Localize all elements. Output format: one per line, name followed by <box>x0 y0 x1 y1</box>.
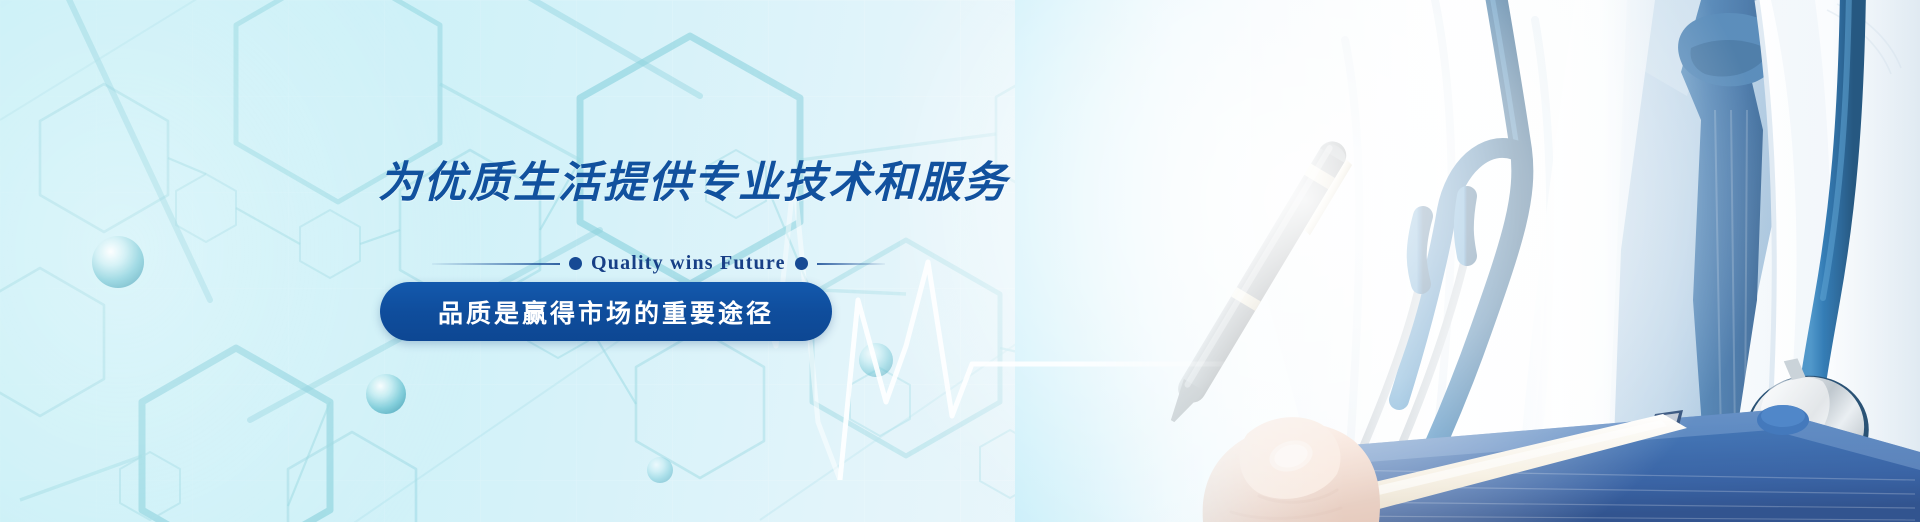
divider-dot-left <box>569 257 582 270</box>
divider-line-right <box>817 263 885 265</box>
slogan-button-label: 品质是赢得市场的重要途径 <box>438 294 774 330</box>
divider-dot-right <box>795 257 808 270</box>
banner-content: 为优质生活提供专业技术和服务 Quality wins Future 品质是赢得… <box>0 0 920 522</box>
tagline-divider: Quality wins Future <box>432 252 885 275</box>
hero-banner: 为优质生活提供专业技术和服务 Quality wins Future 品质是赢得… <box>0 0 1920 522</box>
slogan-button[interactable]: 品质是赢得市场的重要途径 <box>380 282 832 341</box>
page-title: 为优质生活提供专业技术和服务 <box>378 162 1008 205</box>
doctor-photo <box>1015 0 1920 522</box>
tagline-text: Quality wins Future <box>591 252 786 275</box>
divider-line-left <box>432 263 560 265</box>
